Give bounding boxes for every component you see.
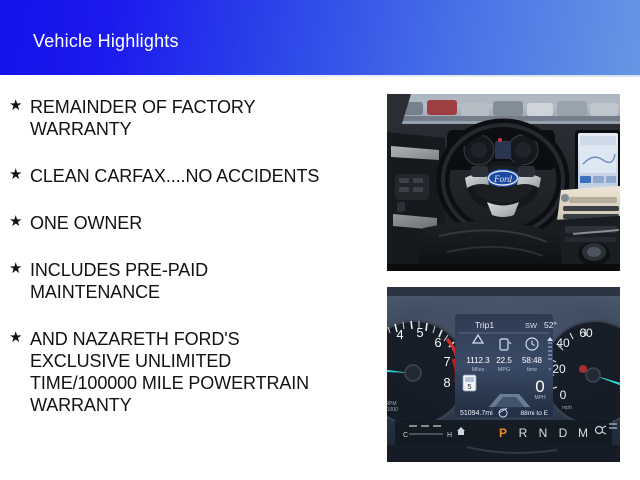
star-icon: ★ xyxy=(9,95,22,117)
svg-text:20: 20 xyxy=(552,362,566,376)
svg-text:Ford: Ford xyxy=(493,174,512,184)
svg-text:SW: SW xyxy=(525,321,538,330)
star-icon: ★ xyxy=(9,211,22,233)
list-item-label: AND NAZARETH FORD'S EXCLUSIVE UNLIMITED … xyxy=(30,328,378,416)
svg-text:D: D xyxy=(559,426,568,440)
svg-text:N: N xyxy=(539,426,548,440)
vehicle-highlights-list: ★ REMAINDER OF FACTORY WARRANTY ★ CLEAN … xyxy=(0,96,378,441)
star-icon: ★ xyxy=(9,258,22,280)
svg-text:40: 40 xyxy=(556,336,570,350)
svg-text:22.5: 22.5 xyxy=(496,356,512,365)
svg-text:time: time xyxy=(527,367,537,373)
svg-text:H: H xyxy=(447,432,452,439)
svg-text:C: C xyxy=(403,432,408,439)
list-item: ★ ONE OWNER xyxy=(0,212,378,234)
list-item-label: INCLUDES PRE-PAID MAINTENANCE xyxy=(30,259,378,303)
svg-text:58:48: 58:48 xyxy=(522,356,543,365)
svg-text:mph: mph xyxy=(562,405,572,411)
cluster-illustration: 3 4 5 6 7 8 RPM x1000 40 20 xyxy=(387,287,620,462)
list-item: ★ INCLUDES PRE-PAID MAINTENANCE xyxy=(0,259,378,303)
interior-illustration: Ford xyxy=(387,94,620,271)
svg-text:Trip1: Trip1 xyxy=(475,320,494,330)
svg-text:4: 4 xyxy=(396,327,403,342)
svg-text:8: 8 xyxy=(443,375,450,390)
svg-text:x1000: x1000 xyxy=(387,407,398,413)
list-item-label: CLEAN CARFAX....NO ACCIDENTS xyxy=(30,165,378,187)
star-icon: ★ xyxy=(9,327,22,349)
svg-text:Miles: Miles xyxy=(472,367,485,373)
svg-text:1112.3: 1112.3 xyxy=(466,356,490,365)
svg-text:MPH: MPH xyxy=(534,395,546,401)
svg-text:7: 7 xyxy=(443,354,450,369)
svg-text:0: 0 xyxy=(535,377,544,396)
svg-text:0: 0 xyxy=(560,388,567,402)
svg-text:M: M xyxy=(578,426,588,440)
svg-text:MPG: MPG xyxy=(498,367,511,373)
svg-text:5: 5 xyxy=(416,325,423,340)
header-divider xyxy=(0,75,640,77)
svg-text:52°: 52° xyxy=(544,320,557,330)
star-icon: ★ xyxy=(9,164,22,186)
svg-text:51094.7mi: 51094.7mi xyxy=(460,410,493,417)
list-item: ★ REMAINDER OF FACTORY WARRANTY xyxy=(0,96,378,140)
svg-text:60: 60 xyxy=(579,326,593,340)
list-item-label: ONE OWNER xyxy=(30,212,378,234)
svg-text:P: P xyxy=(499,426,507,440)
svg-text:88mi to E: 88mi to E xyxy=(521,410,549,417)
list-item-label: REMAINDER OF FACTORY WARRANTY xyxy=(30,96,378,140)
page-title: Vehicle Highlights xyxy=(33,31,179,52)
list-item: ★ CLEAN CARFAX....NO ACCIDENTS xyxy=(0,165,378,187)
vehicle-interior-photo[interactable]: Ford xyxy=(387,94,620,271)
instrument-cluster-photo[interactable]: 3 4 5 6 7 8 RPM x1000 40 20 xyxy=(387,287,620,462)
svg-text:F: F xyxy=(549,367,552,372)
svg-text:R: R xyxy=(519,426,528,440)
svg-text:5: 5 xyxy=(467,382,471,391)
svg-text:6: 6 xyxy=(434,335,441,350)
list-item: ★ AND NAZARETH FORD'S EXCLUSIVE UNLIMITE… xyxy=(0,328,378,416)
